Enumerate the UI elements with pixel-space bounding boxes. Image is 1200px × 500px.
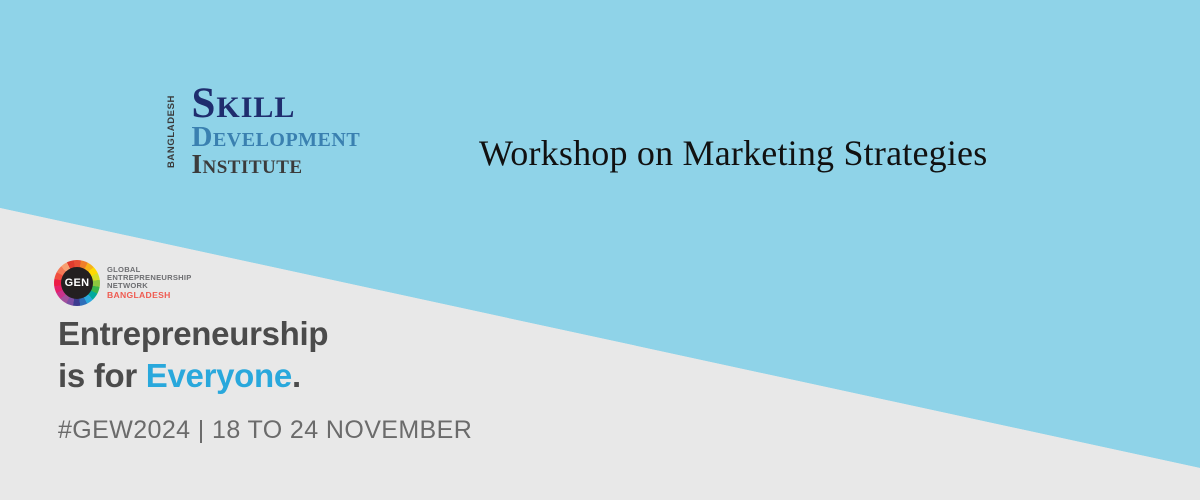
gen-inner-disc: GEN: [61, 267, 93, 299]
tagline-line-2: is for Everyone.: [58, 355, 328, 397]
sdi-institute-text: Institute: [192, 152, 361, 178]
sdi-skill-text: Skill: [192, 86, 361, 123]
tagline-accent-word: Everyone: [146, 357, 292, 394]
tagline-line-1: Entrepreneurship: [58, 313, 328, 355]
global-entrepreneurship-network-logo: GEN GLOBAL ENTREPRENEURSHIP NETWORK BANG…: [54, 260, 192, 306]
event-banner: BANGLADESH Skill Development Institute W…: [0, 0, 1200, 500]
event-dateline: #GEW2024 | 18 TO 24 NOVEMBER: [58, 416, 472, 445]
gen-wordmark: GLOBAL ENTREPRENEURSHIP NETWORK BANGLADE…: [107, 266, 192, 300]
gen-bangladesh-text: BANGLADESH: [107, 291, 192, 300]
gen-circle-icon: GEN: [54, 260, 100, 306]
sdi-development-text: Development: [192, 124, 361, 151]
page-title: Workshop on Marketing Strategies: [479, 132, 987, 174]
gen-monogram-text: GEN: [65, 277, 90, 289]
sdi-vertical-block: BANGLADESH: [166, 86, 183, 177]
tagline-period: .: [292, 357, 301, 394]
sdi-wordmark: Skill Development Institute: [187, 86, 361, 177]
tagline-prefix: is for: [58, 357, 146, 394]
sdi-bangladesh-label: BANGLADESH: [166, 93, 178, 170]
skill-development-institute-logo: BANGLADESH Skill Development Institute: [166, 86, 360, 177]
campaign-tagline: Entrepreneurship is for Everyone.: [58, 313, 328, 397]
